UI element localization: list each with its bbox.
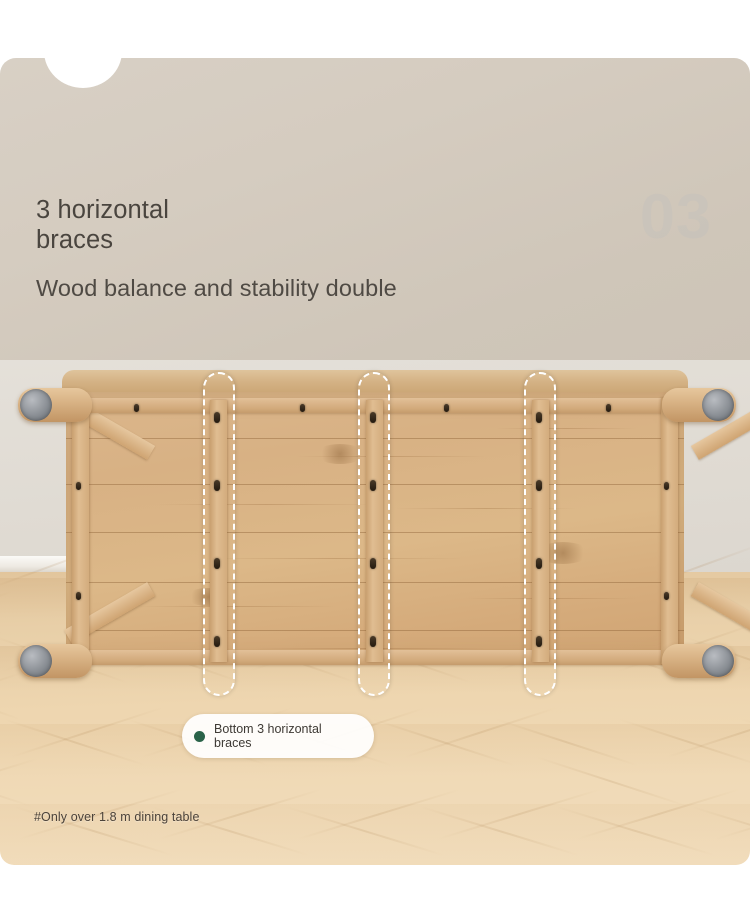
screw <box>134 404 139 412</box>
callout-text: Bottom 3 horizontal braces <box>214 722 322 750</box>
screw <box>664 482 669 490</box>
brace-highlight-left <box>203 372 235 696</box>
subheadline-text: Wood balance and stability double <box>36 275 397 301</box>
wood-grain <box>156 504 376 505</box>
subheadline: Wood balance and stability double <box>36 274 636 303</box>
leg-felt-pad <box>702 645 734 677</box>
wood-grain <box>206 558 466 559</box>
product-photo <box>0 360 750 865</box>
screw <box>76 592 81 600</box>
headline-text: 3 horizontal braces <box>36 196 169 254</box>
frame-rail-right <box>661 398 678 664</box>
footnote: #Only over 1.8 m dining table <box>34 810 200 824</box>
leg-felt-pad <box>20 389 52 421</box>
step-number-watermark: 03 <box>640 186 712 249</box>
screw <box>444 404 449 412</box>
brace-highlight-center <box>358 372 390 696</box>
leg-felt-pad <box>702 389 734 421</box>
product-feature-card: 3 horizontal braces Wood balance and sta… <box>0 0 750 914</box>
wood-grain <box>136 606 336 607</box>
callout-bullet-icon <box>194 731 205 742</box>
callout-label[interactable]: Bottom 3 horizontal braces <box>182 714 374 758</box>
screw <box>664 592 669 600</box>
banner-notch-decoration <box>44 58 122 88</box>
floor-band <box>0 724 750 776</box>
frame-rail-left <box>72 398 89 664</box>
header-banner: 3 horizontal braces Wood balance and sta… <box>0 58 750 364</box>
screw <box>606 404 611 412</box>
leg-felt-pad <box>20 645 52 677</box>
screw <box>76 482 81 490</box>
screw <box>300 404 305 412</box>
brace-highlight-right <box>524 372 556 696</box>
headline: 3 horizontal braces <box>36 196 366 255</box>
wood-grain <box>496 428 636 429</box>
wood-knot <box>316 444 364 464</box>
